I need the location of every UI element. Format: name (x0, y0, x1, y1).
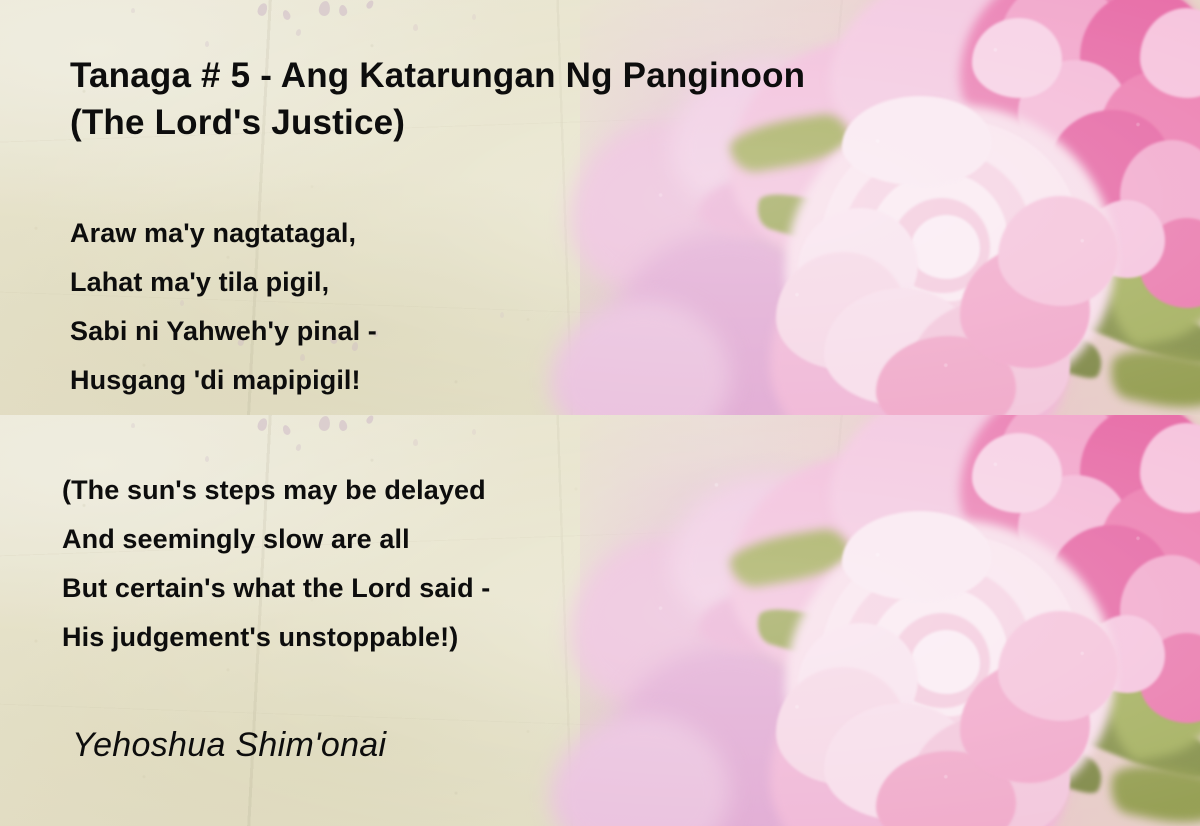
poem-line: Araw ma'y nagtatagal, (70, 209, 377, 258)
poem-line: (The sun's steps may be delayed (62, 466, 490, 515)
poem-poster: Tanaga # 5 - Ang Katarungan Ng Panginoon… (0, 0, 1200, 826)
poem-line: Husgang 'di mapipigil! (70, 356, 377, 405)
poem-text-layer: Tanaga # 5 - Ang Katarungan Ng Panginoon… (0, 0, 1200, 826)
poem-line: Lahat ma'y tila pigil, (70, 258, 377, 307)
stanza-english-translation: (The sun's steps may be delayed And seem… (62, 466, 490, 662)
stanza-tagalog: Araw ma'y nagtatagal, Lahat ma'y tila pi… (70, 209, 377, 405)
poem-line: His judgement's unstoppable!) (62, 613, 490, 662)
poem-line: And seemingly slow are all (62, 515, 490, 564)
author-signature: Yehoshua Shim'onai (72, 723, 386, 767)
poem-line: Sabi ni Yahweh'y pinal - (70, 307, 377, 356)
poem-title: Tanaga # 5 - Ang Katarungan Ng Panginoon… (70, 52, 1030, 146)
poem-line: But certain's what the Lord said - (62, 564, 490, 613)
